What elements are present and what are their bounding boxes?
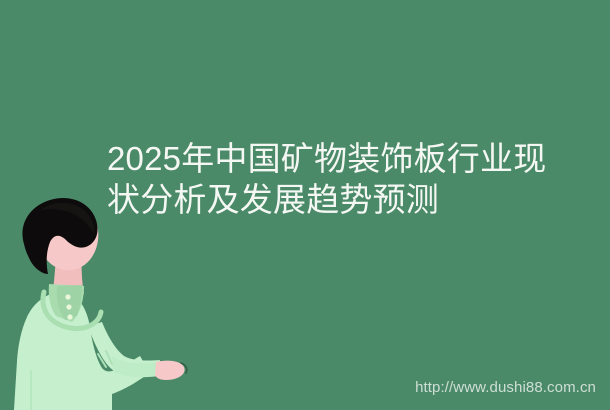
sweater-shape: [14, 292, 160, 410]
collar-shape: [43, 284, 101, 329]
watermark-url: http://www.dushi88.com.cn: [415, 379, 596, 397]
title-line-1: 2025年中国矿物装饰板行业现: [107, 138, 557, 179]
title-line-2: 状分析及发展趋势预测: [107, 179, 557, 220]
hand-shape: [155, 361, 187, 380]
person-illustration: [0, 196, 210, 410]
page-title: 2025年中国矿物装饰板行业现 状分析及发展趋势预测: [107, 138, 557, 220]
poster-canvas: 2025年中国矿物装饰板行业现 状分析及发展趋势预测 http://www.du…: [0, 0, 610, 410]
